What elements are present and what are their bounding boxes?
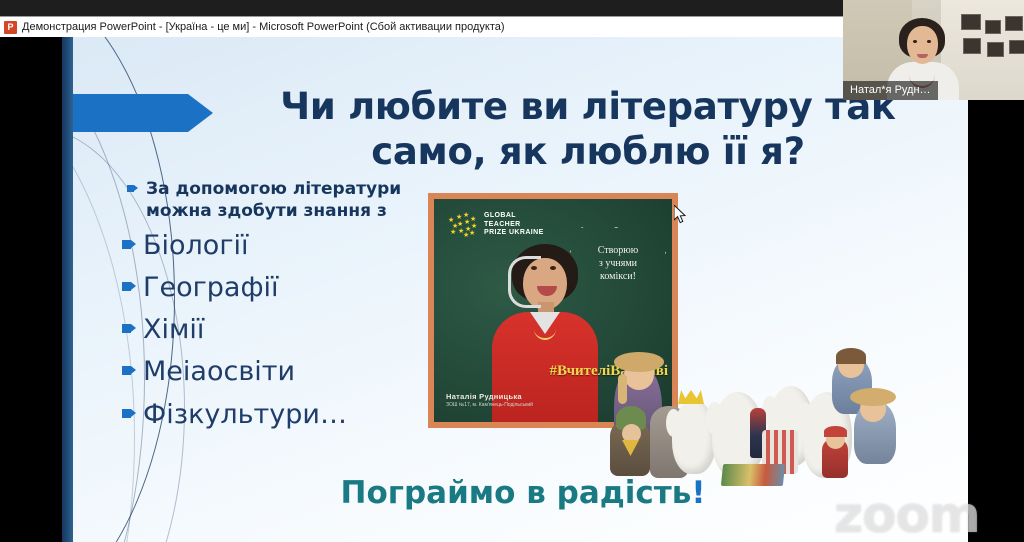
bullet-arrow-icon bbox=[127, 185, 139, 194]
wall-picture-frame bbox=[987, 42, 1004, 57]
logo-line-1: GLOBAL bbox=[484, 212, 544, 221]
bullet-arrow-icon bbox=[122, 240, 136, 249]
logo-line-3: PRIZE UKRAINE bbox=[484, 229, 544, 238]
blue-arrow-head-icon bbox=[188, 94, 213, 132]
caption-school: ЗОШ №17, м. Кам'янець-Подільський bbox=[446, 402, 533, 408]
bullet-arrow-icon bbox=[122, 324, 136, 333]
headphones-icon bbox=[508, 256, 541, 308]
slide-navy-stripe bbox=[62, 37, 73, 542]
list-item: Фізкультури… bbox=[127, 396, 437, 434]
photo-caption: Наталія Рудницька ЗОШ №17, м. Кам'янець-… bbox=[446, 392, 533, 409]
blue-arrow-banner bbox=[73, 94, 188, 132]
zoom-watermark: zoom bbox=[834, 486, 980, 542]
teacher-necklace bbox=[534, 316, 556, 340]
decorative-curve bbox=[73, 77, 135, 542]
speech-bubble-text: Створюю з учнями комікси! bbox=[570, 227, 666, 299]
participant-name-label: Натал*я Рудн… bbox=[843, 81, 938, 100]
list-item: Меіаосвіти bbox=[127, 353, 437, 391]
bullet-arrow-icon bbox=[122, 282, 136, 291]
bullet-arrow-icon bbox=[122, 366, 136, 375]
wall-picture-frame bbox=[1005, 16, 1023, 31]
screen-root: P Демонстрация PowerPoint - [Україна - ц… bbox=[0, 0, 1024, 542]
wall-picture-frame bbox=[963, 38, 981, 54]
list-item-label: Меіаосвіти bbox=[143, 353, 295, 391]
open-book bbox=[721, 464, 785, 486]
wall-picture-frame bbox=[985, 20, 1001, 34]
bullet-arrow-icon bbox=[122, 409, 136, 418]
list-item: Хімії bbox=[127, 311, 437, 349]
powerpoint-icon: P bbox=[4, 21, 17, 34]
caption-name: Наталія Рудницька bbox=[446, 392, 533, 401]
left-letterbox bbox=[0, 37, 62, 542]
teacher-eye-right bbox=[550, 266, 556, 270]
participant-face bbox=[907, 26, 938, 64]
list-item-label: Географії bbox=[143, 269, 279, 307]
participant-eye-right bbox=[927, 40, 931, 43]
participant-video-thumbnail[interactable]: Натал*я Рудн… bbox=[843, 0, 1024, 100]
right-letterbox bbox=[968, 37, 1024, 542]
doll-braid bbox=[618, 374, 627, 404]
list-item: Біології bbox=[127, 227, 437, 265]
list-item: Географії bbox=[127, 269, 437, 307]
logo-text-block: GLOBAL TEACHER PRIZE UKRAINE bbox=[484, 212, 544, 238]
plush-toys-group bbox=[610, 348, 900, 503]
list-item-label: Фізкультури… bbox=[143, 396, 347, 434]
straw-hat-icon bbox=[850, 388, 896, 406]
speech-bubble: Створюю з учнями комікси! bbox=[570, 227, 666, 299]
global-teacher-prize-logo: ★ ★ ★ ★ ★ ★ ★ ★ ★ ★ ★ ★ ★ bbox=[448, 211, 544, 239]
doll-hair bbox=[836, 348, 866, 364]
straw-hat-icon bbox=[614, 352, 664, 372]
star-cluster-icon: ★ ★ ★ ★ ★ ★ ★ ★ ★ ★ ★ ★ ★ bbox=[448, 211, 478, 239]
bullet-lead: За допомогою літератури можна здобути зн… bbox=[127, 179, 437, 223]
wall-picture-frame bbox=[1009, 40, 1024, 54]
list-item-label: Хімії bbox=[143, 311, 204, 349]
bullet-lead-text: За допомогою літератури можна здобути зн… bbox=[146, 179, 437, 223]
list-item-label: Біології bbox=[143, 227, 249, 265]
moomin-crown-icon bbox=[678, 390, 704, 404]
logo-line-2: TEACHER bbox=[484, 221, 544, 230]
participant-eye-left bbox=[913, 40, 917, 43]
window-title: Демонстрация PowerPoint - [Україна - це … bbox=[22, 21, 505, 33]
small-red-doll-hat bbox=[824, 426, 847, 437]
mouse-cursor bbox=[674, 205, 688, 225]
wall-picture-frame bbox=[961, 14, 981, 30]
slide-bullet-list: За допомогою літератури можна здобути зн… bbox=[127, 179, 437, 438]
